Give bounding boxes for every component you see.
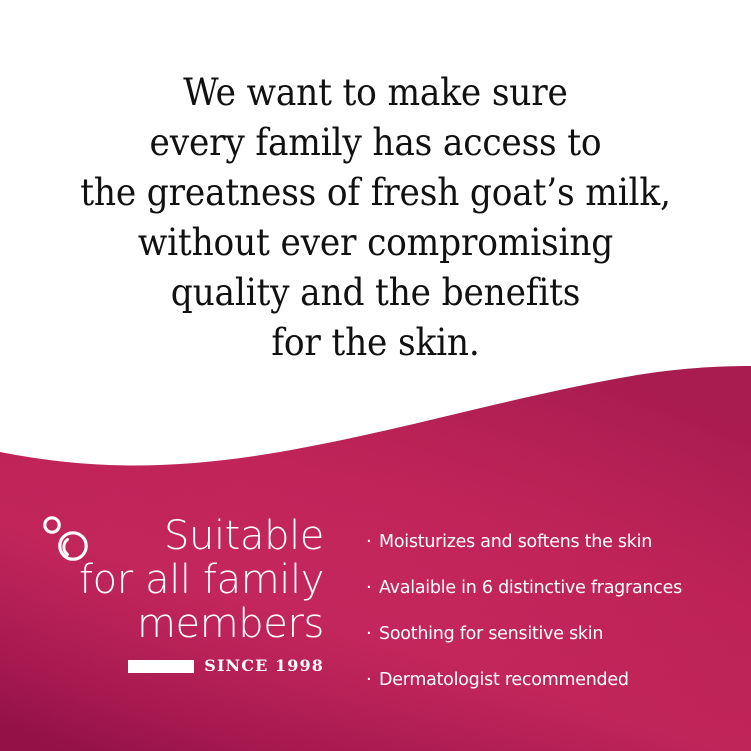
suitable-heading-line-2: for all family	[24, 558, 324, 602]
bullet-icon: ·	[366, 565, 379, 611]
bullet-icon: ·	[366, 519, 379, 565]
since-label: SINCE 1998	[204, 658, 324, 674]
benefit-item: · Dermatologist recommended	[366, 657, 736, 703]
benefit-label: Avalaible in 6 distinctive fragrances	[379, 565, 682, 611]
headline-line-5: quality and the benefits	[26, 268, 724, 318]
benefit-label: Soothing for sensitive skin	[379, 611, 603, 657]
benefit-item: · Avalaible in 6 distinctive fragrances	[366, 565, 736, 611]
suitable-heading-line-1: Suitable	[24, 514, 324, 558]
benefit-item: · Soothing for sensitive skin	[366, 611, 736, 657]
benefits-list: · Moisturizes and softens the skin · Ava…	[366, 519, 736, 703]
bullet-icon: ·	[366, 611, 379, 657]
headline-line-6: for the skin.	[26, 318, 724, 368]
headline-line-4: without ever compromising	[26, 218, 724, 268]
since-row: SINCE 1998	[24, 658, 324, 674]
benefit-label: Moisturizes and softens the skin	[379, 519, 652, 565]
benefit-label: Dermatologist recommended	[379, 657, 629, 703]
benefit-item: · Moisturizes and softens the skin	[366, 519, 736, 565]
headline: We want to make sure every family has ac…	[0, 68, 751, 368]
headline-line-3: the greatness of fresh goat’s milk,	[26, 168, 724, 218]
suitable-heading-line-3: members	[24, 602, 324, 646]
headline-line-1: We want to make sure	[26, 68, 724, 118]
bullet-icon: ·	[366, 657, 379, 703]
suitable-heading: Suitable for all family members	[24, 514, 324, 646]
headline-line-2: every family has access to	[26, 118, 724, 168]
promo-banner: We want to make sure every family has ac…	[0, 0, 751, 751]
since-rule-bar	[128, 660, 194, 673]
